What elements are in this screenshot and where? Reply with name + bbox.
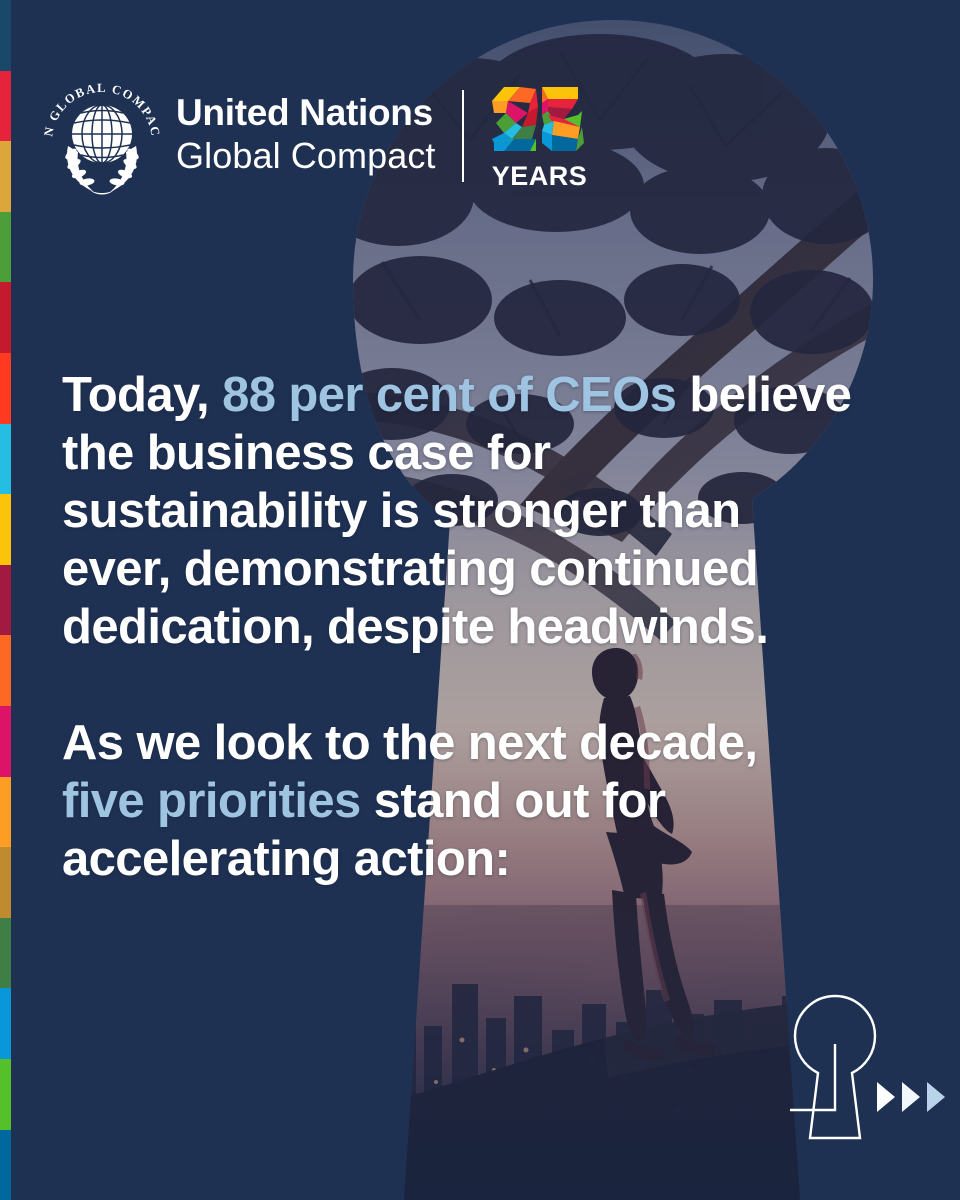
sdg-colour-segment-10 bbox=[0, 635, 11, 706]
p1-seg-0: Today, bbox=[62, 368, 222, 422]
social-card: UN GLOBAL COMPACT bbox=[0, 0, 960, 1200]
arrow-2 bbox=[900, 1080, 922, 1114]
sdg-colour-segment-4 bbox=[0, 212, 11, 283]
anniversary-mark: YEARS bbox=[486, 81, 594, 192]
headline-paragraph-1: Today, 88 per cent of CEOs believe the b… bbox=[62, 366, 852, 656]
sdg-colour-segment-6 bbox=[0, 353, 11, 424]
wordmark-line-1: United Nations bbox=[176, 94, 436, 131]
vertical-rule-divider bbox=[462, 90, 464, 182]
sdg-colour-segment-7 bbox=[0, 424, 11, 495]
sdg-colour-segment-8 bbox=[0, 494, 11, 565]
arrow-1 bbox=[875, 1080, 897, 1114]
sdg-colour-segment-3 bbox=[0, 141, 11, 212]
keyhole-outline-icon bbox=[790, 992, 880, 1142]
headline-paragraph-2: As we look to the next decade, five prio… bbox=[62, 714, 852, 888]
sdg-colour-segment-13 bbox=[0, 847, 11, 918]
sdg-colour-strip bbox=[0, 0, 11, 1200]
anniversary-label: YEARS bbox=[486, 161, 594, 192]
sdg-colour-segment-12 bbox=[0, 777, 11, 848]
arrow-3 bbox=[925, 1080, 947, 1114]
sdg-colour-segment-15 bbox=[0, 988, 11, 1059]
twenty-five-mosaic-icon bbox=[486, 81, 594, 159]
sdg-colour-segment-5 bbox=[0, 282, 11, 353]
brand-wordmark: United Nations Global Compact bbox=[176, 94, 436, 178]
headline-copy: Today, 88 per cent of CEOs believe the b… bbox=[62, 366, 852, 888]
sdg-colour-segment-2 bbox=[0, 71, 11, 142]
sdg-colour-segment-17 bbox=[0, 1130, 11, 1200]
p2-highlight-priorities: five priorities bbox=[62, 774, 361, 828]
un-global-compact-globe-laurel-emblem: UN GLOBAL COMPACT bbox=[38, 72, 166, 200]
sdg-colour-segment-9 bbox=[0, 565, 11, 636]
sdg-colour-segment-1 bbox=[0, 0, 11, 71]
sdg-colour-segment-14 bbox=[0, 918, 11, 989]
wordmark-line-2: Global Compact bbox=[176, 138, 436, 174]
p1-highlight-statistic: 88 per cent of CEOs bbox=[222, 368, 676, 422]
brand-lockup: UN GLOBAL COMPACT bbox=[38, 72, 594, 200]
triple-chevron-next-icon[interactable] bbox=[875, 1080, 947, 1114]
sdg-colour-segment-16 bbox=[0, 1059, 11, 1130]
p2-seg-0: As we look to the next decade, bbox=[62, 716, 757, 770]
sdg-colour-segment-11 bbox=[0, 706, 11, 777]
